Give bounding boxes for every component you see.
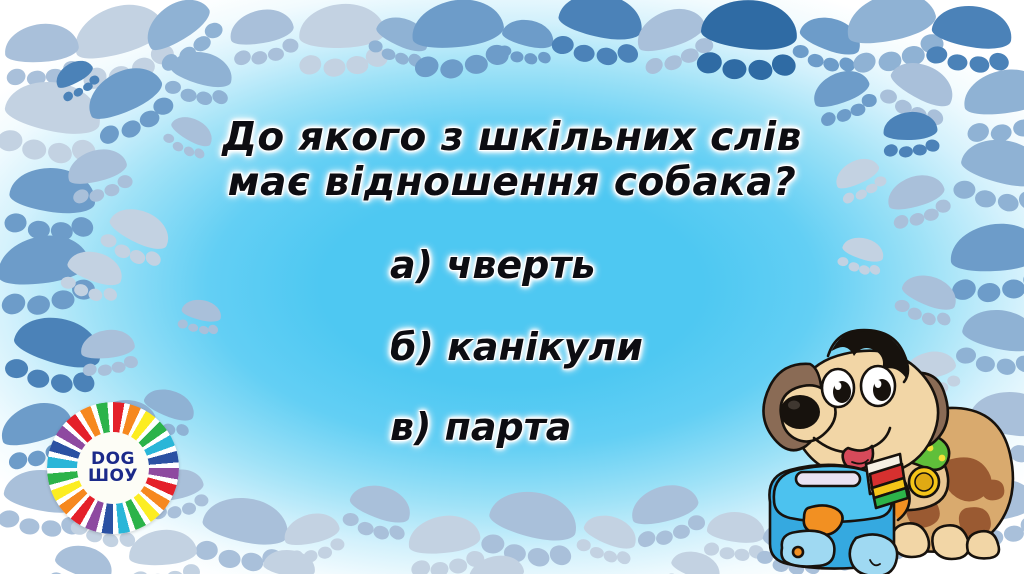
logo-line-2: ШОУ: [47, 468, 179, 485]
dog-mascot: [752, 312, 1020, 574]
answer-option-c[interactable]: в) парта: [390, 405, 571, 449]
paw-print-icon: [549, 0, 646, 83]
paw-print-icon: [948, 219, 1024, 318]
paw-print-icon: [626, 478, 710, 561]
answer-option-a[interactable]: а) чверть: [390, 243, 595, 287]
paw-print-icon: [176, 296, 223, 343]
paw-print-icon: [835, 233, 887, 284]
paw-print-icon: [950, 132, 1024, 230]
answer-option-b[interactable]: б) канікули: [390, 325, 643, 369]
dog-show-logo[interactable]: DOG ШОУ: [47, 402, 179, 534]
logo-text: DOG ШОУ: [47, 451, 179, 485]
paw-print-icon: [338, 478, 416, 555]
paw-print-icon: [883, 168, 956, 240]
paw-print-icon: [495, 15, 556, 76]
paw-print-icon: [408, 0, 512, 96]
paw-print-icon: [226, 4, 302, 79]
paw-print-icon: [830, 152, 891, 213]
paw-print-icon: [127, 527, 202, 574]
paw-print-icon: [573, 508, 642, 574]
paw-print-icon: [697, 0, 799, 97]
quiz-slide: До якого з шкільних слів має відношення …: [0, 0, 1024, 574]
paw-print-icon: [882, 110, 940, 167]
paw-print-icon: [79, 326, 140, 386]
